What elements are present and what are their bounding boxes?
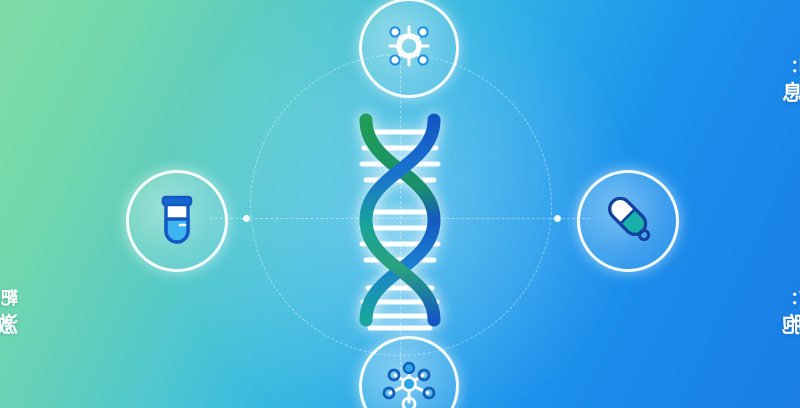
label-gene-testing: 基因检测： 精准定位遗传信息 (782, 56, 800, 107)
cell-molecule-icon (382, 19, 436, 77)
connector-dot-right (554, 215, 561, 222)
icon-bubble-left[interactable] (126, 170, 228, 272)
infographic-canvas: 基因检测： 精准定位遗传信息 免疫治疗： 针对病变细胞 靶向治疗： 激活自身免疫… (0, 0, 800, 408)
capsule-pill-icon (601, 192, 655, 250)
dna-double-helix (336, 106, 464, 334)
molecular-network-icon (381, 358, 437, 408)
icon-bubble-right[interactable] (577, 170, 679, 272)
test-tube-icon (151, 191, 203, 251)
label-targeted-therapy: 靶向治疗： 激活自身免疫系统 (0, 288, 18, 339)
label-targeted-therapy-description: 激活自身免疫系统 (0, 312, 18, 339)
label-targeted-therapy-title: 靶向治疗： (0, 288, 18, 310)
label-immunotherapy: 免疫治疗： 针对病变细胞 (782, 288, 800, 339)
connector-dot-left (243, 215, 250, 222)
icon-bubble-bottom[interactable] (359, 336, 459, 408)
label-immunotherapy-description: 针对病变细胞 (782, 312, 800, 339)
label-immunotherapy-title: 免疫治疗： (782, 288, 800, 310)
icon-bubble-top[interactable] (359, 0, 459, 98)
label-gene-testing-title: 基因检测： (782, 56, 800, 78)
label-gene-testing-description: 精准定位遗传信息 (782, 80, 800, 107)
